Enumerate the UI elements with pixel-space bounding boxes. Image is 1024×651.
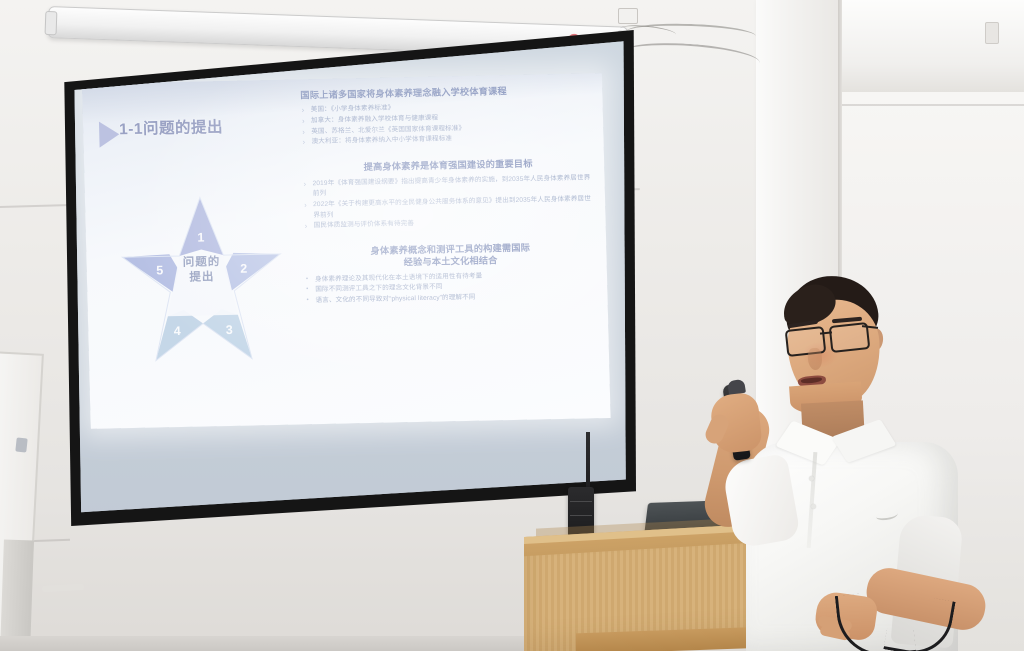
block-heading: 提高身体素养是体育强国建设的重要目标 — [302, 156, 594, 175]
housing-end-cap — [45, 11, 58, 35]
star-point-3: 3 — [226, 323, 233, 337]
device-seam — [570, 501, 592, 502]
slide-block-1: 国际上诸多国家将身体素养理念融入学校体育课程 美国：《小学身体素养标准》 加拿大… — [300, 83, 593, 148]
star-point-2: 2 — [240, 262, 247, 276]
powerpoint-slide: 1-1问题的提出 1 2 3 4 5 — [82, 73, 611, 429]
shirt-button — [809, 476, 814, 481]
star-point-1: 1 — [197, 230, 204, 244]
right-arrow-icon — [99, 121, 120, 147]
star-center-line-2: 提出 — [169, 270, 235, 286]
shirt-button — [811, 504, 816, 509]
wall-seam — [842, 104, 1024, 106]
block-bullet-list: 身体素养理论及其现代化在本土语境下的适用性有待考量 国际不同测评工具之下的理念文… — [305, 269, 598, 307]
ceiling-soffit — [842, 0, 1024, 93]
slide-block-2: 提高身体素养是体育强国建设的重要目标 2019年《体育强国建设纲要》指出提高青少… — [302, 156, 596, 232]
microphone-stand — [586, 432, 590, 490]
five-point-star-diagram: 1 2 3 4 5 问题的 提出 — [115, 190, 289, 369]
block-bullet-list: 美国：《小学身体素养标准》 加拿大：身体素养融入学校体育与健康课程 英国、苏格兰… — [301, 100, 594, 149]
star-point-4: 4 — [174, 324, 181, 338]
block-bullet-list: 2019年《体育强国建设纲要》指出提高青少年身体素养的实施，到2035年人民身体… — [302, 173, 595, 232]
star-center-line-1: 问题的 — [168, 255, 234, 271]
slide-content-column: 国际上诸多国家将身体素养理念融入学校体育课程 美国：《小学身体素养标准》 加拿大… — [300, 83, 598, 316]
star-point-5: 5 — [156, 263, 163, 277]
slide-title: 1-1问题的提出 — [119, 115, 223, 139]
whiteboard-leg — [0, 540, 34, 651]
projected-slide-area: 1-1问题的提出 1 2 3 4 5 — [70, 36, 628, 518]
whiteboard-clip — [15, 437, 27, 452]
slide-block-3: 身体素养概念和测评工具的构建需国际 经验与本土文化相结合 身体素养理论及其现代化… — [304, 240, 597, 307]
wall-junction-box — [618, 8, 638, 24]
scene-root: 1-1问题的提出 1 2 3 4 5 — [0, 0, 1024, 651]
wall-socket[interactable] — [985, 22, 999, 44]
block-heading: 国际上诸多国家将身体素养理念融入学校体育课程 — [300, 83, 592, 102]
device-seam — [570, 515, 592, 516]
floor — [0, 636, 524, 651]
star-center-label: 问题的 提出 — [168, 255, 235, 286]
